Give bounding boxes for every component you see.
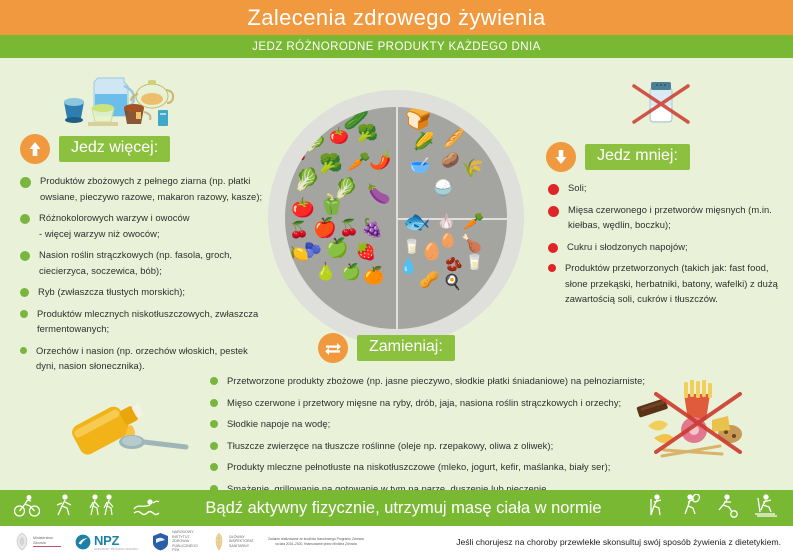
gis-emblem-icon bbox=[212, 532, 226, 552]
list-item-text: Produktów mlecznych niskotłuszczowych, z… bbox=[37, 306, 268, 337]
list-item-text: Przetworzone produkty zbożowe (np. jasne… bbox=[227, 373, 645, 389]
bullet-dot bbox=[20, 288, 29, 297]
polish-eagle-icon bbox=[14, 532, 30, 552]
list-item-text: Produktów przetworzonych (takich jak: fa… bbox=[565, 260, 784, 307]
list-item-text: Słodkie napoje na wodę; bbox=[227, 416, 330, 432]
healthy-eating-plate: 🥒 🥬 🍅 🥦 🍒 🥦 🥕 🌶️ 🥬 🥬 🍆 🍅 🫑 🍒 🍎 🍒 🍇 🫐 � bbox=[268, 90, 524, 346]
pzh-logo: NARODOWY INSTYTUT ZDROWIA PUBLICZNEGO PZ… bbox=[152, 530, 198, 553]
list-item: Nasion roślin strączkowych (np. fasola, … bbox=[20, 247, 268, 278]
oil-bottle-spoon-illustration bbox=[58, 386, 198, 461]
list-item: Przetworzone produkty zbożowe (np. jasne… bbox=[210, 373, 680, 389]
footer-bar: Ministerstwo Zdrowia NPZ NARODOWY PROGRA… bbox=[0, 526, 793, 557]
hiking-icon bbox=[647, 494, 667, 523]
bullet-dot bbox=[20, 214, 30, 224]
walking-icon bbox=[54, 494, 74, 523]
list-item: Ryb (zwłaszcza tłustych morskich); bbox=[20, 284, 268, 300]
npz-logo-text: NPZ bbox=[94, 533, 138, 548]
npz-logo-sub: NARODOWY PROGRAM ZDROWIA bbox=[94, 548, 138, 551]
list-item-text: Smażenie, grillowanie na gotowanie w tym… bbox=[227, 481, 549, 491]
list-item-text: Różnokolorowych warzyw i owoców - więcej… bbox=[39, 210, 190, 241]
bullet-dot bbox=[20, 251, 30, 261]
header-title-bar: Zalecenia zdrowego żywienia bbox=[0, 0, 793, 35]
skiing-icon bbox=[753, 493, 779, 524]
football-icon bbox=[715, 494, 739, 523]
list-item: Produktów zbożowych z pełnego ziarna (np… bbox=[20, 173, 268, 204]
activity-icons-right bbox=[633, 493, 793, 524]
list-item-text: Ryb (zwłaszcza tłustych morskich); bbox=[38, 284, 185, 300]
list-item: Tłuszcze zwierzęce na tłuszcze roślinne … bbox=[210, 438, 680, 454]
bullet-dot bbox=[210, 442, 218, 450]
ministry-logo-rule bbox=[33, 546, 61, 547]
activity-icons-left bbox=[0, 494, 174, 523]
list-item-text: Mięsa czerwonego i przetworów mięsnych (… bbox=[568, 202, 784, 233]
npz-logo: NPZ NARODOWY PROGRAM ZDROWIA bbox=[75, 533, 138, 551]
list-item-text: Tłuszcze zwierzęce na tłuszcze roślinne … bbox=[227, 438, 553, 454]
eat-more-list: Produktów zbożowych z pełnego ziarna (np… bbox=[20, 173, 268, 380]
gis-logo: GŁÓWNY INSPEKTORAT SANITARNY bbox=[212, 532, 254, 552]
swap-arrows-icon bbox=[318, 333, 348, 363]
eat-more-heading: Jedz więcej: bbox=[20, 134, 170, 164]
swap-list: Przetworzone produkty zbożowe (np. jasne… bbox=[210, 373, 680, 490]
arrow-up-icon bbox=[20, 134, 50, 164]
page-subtitle: JEDZ RÓŻNORODNE PRODUKTY KAŻDEGO DNIA bbox=[252, 41, 541, 53]
plate-quadrant-protein-and-dairy: 🐟 🥕 🧄 🥚 🍗 🥛 🥚 🫘 💧 🥛 🥜 🍳 bbox=[285, 107, 507, 329]
ministry-logo-line2: Zdrowia bbox=[33, 541, 61, 546]
swap-heading: Zamieniaj: bbox=[318, 333, 455, 363]
eat-less-list: Soli; Mięsa czerwonego i przetworów mięs… bbox=[548, 180, 784, 313]
bullet-dot bbox=[210, 399, 218, 407]
infographic-canvas: 🥒 🥬 🍅 🥦 🍒 🥦 🥕 🌶️ 🥬 🥬 🍆 🍅 🫑 🍒 🍎 🍒 🍇 🫐 � bbox=[0, 58, 793, 490]
list-item: Słodkie napoje na wodę; bbox=[210, 416, 680, 432]
plate-surface: 🥒 🥬 🍅 🥦 🍒 🥦 🥕 🌶️ 🥬 🥬 🍆 🍅 🫑 🍒 🍎 🍒 🍇 🫐 � bbox=[285, 107, 507, 329]
physical-activity-bar: Bądź aktywny fizycznie, utrzymuj masę ci… bbox=[0, 490, 793, 526]
list-item-text: Mięso czerwone i przetwory mięsne na ryb… bbox=[227, 395, 621, 411]
footer-message: Jeśli chorujesz na choroby przewlekłe sk… bbox=[456, 537, 793, 547]
tennis-icon bbox=[681, 494, 701, 523]
nordic-walking-pair-icon bbox=[88, 494, 118, 523]
list-item: Produkty mleczne pełnotłuste na niskotłu… bbox=[210, 459, 680, 475]
list-item-text: Produktów zbożowych z pełnego ziarna (np… bbox=[40, 173, 268, 204]
gis-logo-line3: SANITARNY bbox=[229, 544, 254, 549]
swimming-icon bbox=[132, 494, 160, 523]
eat-more-label: Jedz więcej: bbox=[59, 136, 170, 162]
bullet-dot bbox=[548, 264, 556, 272]
list-item-text: Cukru i słodzonych napojów; bbox=[567, 239, 688, 255]
list-item: Mięsa czerwonego i przetworów mięsnych (… bbox=[548, 202, 784, 233]
cycling-icon bbox=[14, 494, 40, 523]
eat-less-heading: Jedz mniej: bbox=[546, 142, 690, 172]
list-item-text: Soli; bbox=[568, 180, 587, 196]
list-item: Produktów przetworzonych (takich jak: fa… bbox=[548, 260, 784, 307]
bullet-dot bbox=[20, 177, 31, 188]
list-item: Produktów mlecznych niskotłuszczowych, z… bbox=[20, 306, 268, 337]
bullet-dot bbox=[20, 310, 28, 318]
eat-less-label: Jedz mniej: bbox=[585, 144, 690, 170]
arrow-down-icon bbox=[546, 142, 576, 172]
pzh-logo-line1: NARODOWY bbox=[172, 530, 198, 535]
list-item: Mięso czerwone i przetwory mięsne na ryb… bbox=[210, 395, 680, 411]
npz-mark-icon bbox=[75, 534, 91, 550]
salt-shaker-crossed-illustration bbox=[620, 70, 700, 136]
beverages-illustration bbox=[58, 68, 178, 134]
footer-logos: Ministerstwo Zdrowia NPZ NARODOWY PROGRA… bbox=[0, 530, 364, 553]
list-item: Różnokolorowych warzyw i owoców - więcej… bbox=[20, 210, 268, 241]
bullet-dot bbox=[548, 243, 558, 253]
pzh-logo-line5: PZH bbox=[172, 548, 198, 553]
activity-slogan: Bądź aktywny fizycznie, utrzymuj masę ci… bbox=[174, 499, 633, 518]
list-item: Orzechów i nasion (np. orzechów włoskich… bbox=[20, 343, 268, 374]
list-item: Soli; bbox=[548, 180, 784, 196]
funding-note: Zadanie realizowane ze środków Narodoweg… bbox=[268, 537, 364, 546]
list-item-text: Nasion roślin strączkowych (np. fasola, … bbox=[39, 247, 268, 278]
bullet-dot bbox=[210, 463, 218, 471]
list-item-text: Orzechów i nasion (np. orzechów włoskich… bbox=[36, 343, 268, 374]
list-item: Smażenie, grillowanie na gotowanie w tym… bbox=[210, 481, 680, 491]
bullet-dot bbox=[210, 420, 218, 428]
bullet-dot bbox=[548, 206, 559, 217]
list-item-text: Produkty mleczne pełnotłuste na niskotłu… bbox=[227, 459, 610, 475]
header-subtitle-bar: JEDZ RÓŻNORODNE PRODUKTY KAŻDEGO DNIA bbox=[0, 35, 793, 58]
ministry-of-health-logo: Ministerstwo Zdrowia bbox=[14, 532, 61, 552]
swap-label: Zamieniaj: bbox=[357, 335, 455, 361]
list-item: Cukru i słodzonych napojów; bbox=[548, 239, 784, 255]
page-title: Zalecenia zdrowego żywienia bbox=[247, 5, 545, 31]
bullet-dot bbox=[548, 184, 559, 195]
bullet-dot bbox=[20, 347, 27, 354]
pzh-shield-icon bbox=[152, 532, 169, 551]
bullet-dot bbox=[210, 377, 218, 385]
